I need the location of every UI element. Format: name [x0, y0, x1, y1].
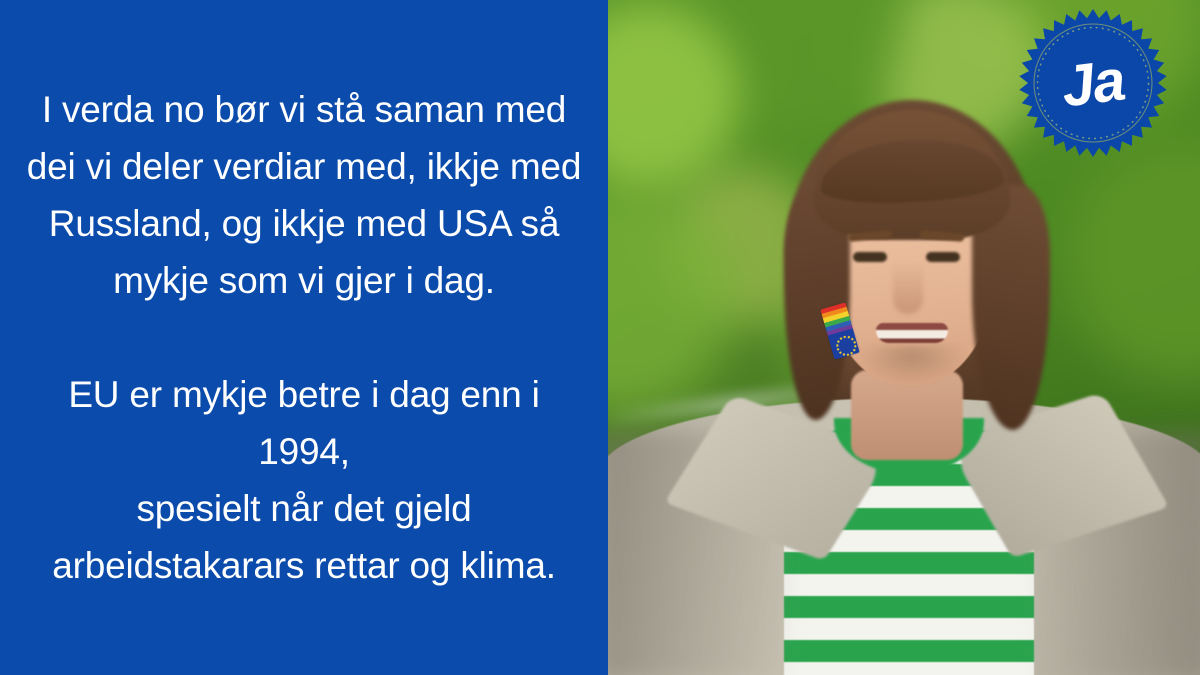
- ja-label: Ja: [1009, 0, 1176, 167]
- nose: [893, 262, 923, 314]
- mouth: [876, 323, 948, 343]
- poster-canvas: I verda no bør vi stå saman med dei vi d…: [0, 0, 1200, 675]
- eye-right: [926, 252, 960, 262]
- quote-body: I verda no bør vi stå saman med dei vi d…: [24, 81, 584, 594]
- chin-shadow: [858, 345, 966, 385]
- quote-paragraph-2: EU er mykje betre i dag enn i 1994, spes…: [24, 366, 584, 594]
- eye-left: [853, 252, 887, 262]
- ja-stamp-badge: Ja: [1018, 8, 1168, 158]
- quote-paragraph-1: I verda no bør vi stå saman med dei vi d…: [24, 81, 584, 309]
- quote-panel: I verda no bør vi stå saman med dei vi d…: [0, 0, 608, 675]
